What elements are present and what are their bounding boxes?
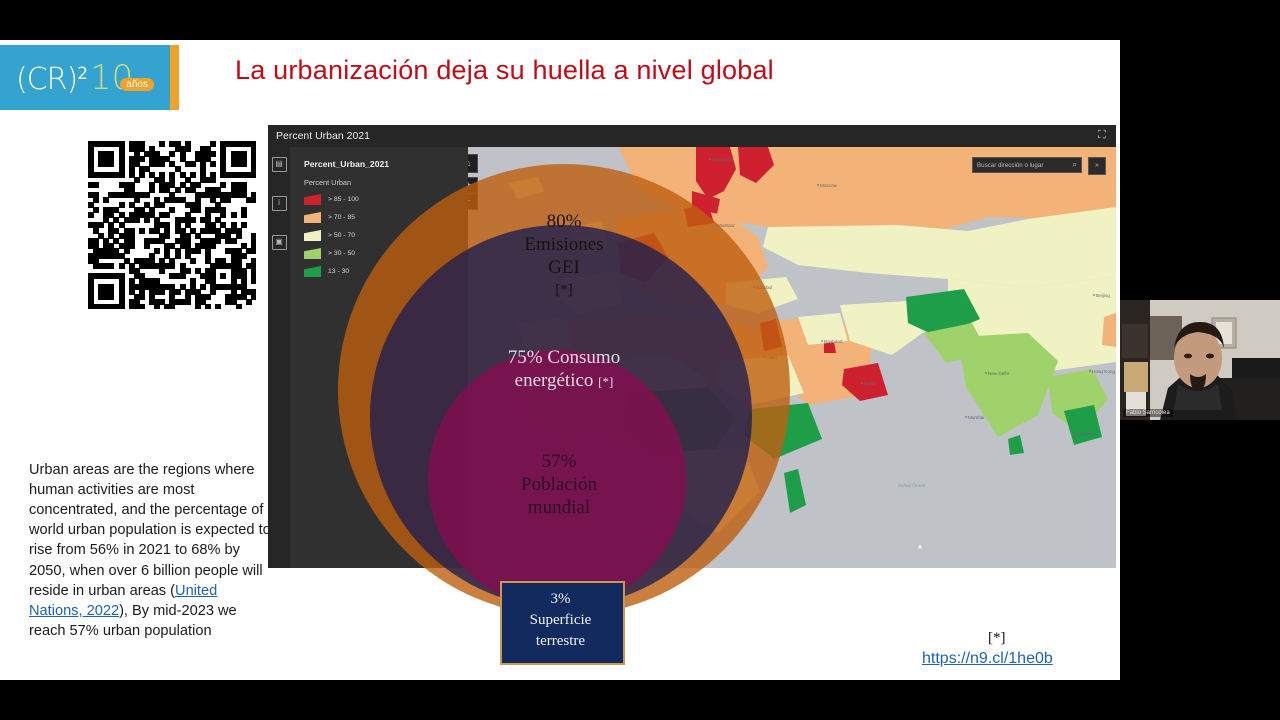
footnote-link[interactable]: https://n9.cl/1he0b	[922, 650, 1053, 668]
legend-icon[interactable]: ▤	[272, 157, 287, 172]
city-marker	[665, 270, 667, 272]
city-marker	[861, 382, 863, 384]
qr-code[interactable]	[88, 141, 256, 309]
city-marker	[715, 224, 717, 226]
body-paragraph: Urban areas are the regions where human …	[29, 460, 274, 642]
logo-badge: años	[120, 78, 154, 91]
city-marker	[821, 340, 823, 342]
legend-row: > 85 - 100	[304, 194, 468, 205]
city-label: New Delhi	[988, 371, 1009, 376]
logo-mark: (CR)	[16, 62, 77, 97]
info-icon[interactable]: i	[272, 196, 287, 211]
city-marker	[1093, 294, 1095, 296]
zoom-in-button[interactable]: +	[468, 178, 477, 193]
expand-icon[interactable]: ⛶	[1098, 130, 1109, 141]
city-marker	[965, 416, 967, 418]
city-marker	[763, 356, 765, 358]
legend-swatch	[304, 230, 321, 241]
legend-label: 13 - 30	[328, 268, 349, 275]
logo-accent-bar	[170, 45, 179, 110]
land-pct: 3%	[503, 589, 618, 610]
city-label: Moscow	[820, 183, 838, 188]
city-label: Madrid	[564, 287, 578, 292]
legend-label: > 70 - 85	[328, 214, 355, 221]
city-marker	[611, 248, 613, 250]
city-marker	[985, 372, 987, 374]
logo-superscript: 2	[77, 64, 88, 84]
legend-title: Percent Urban	[304, 178, 468, 187]
city-label: Paris	[614, 247, 625, 252]
legend-row: > 50 - 70	[304, 230, 468, 241]
label-land-surface: 3% Superficie terrestre	[503, 589, 618, 652]
legend-label: > 85 - 100	[328, 196, 359, 203]
city-label: Milan	[668, 269, 679, 274]
city-marker	[753, 286, 755, 288]
qr-code-canvas	[88, 141, 256, 309]
cr2-logo: (CR)2 10 años	[0, 45, 170, 110]
city-marker	[709, 158, 711, 160]
land-line1: Superficie	[503, 610, 618, 631]
world-choropleth: StockholmMoscowLondonWarsawParisMilanMad…	[468, 147, 1116, 568]
city-label: Accra	[568, 479, 580, 484]
layer-name: Percent_Urban_2021	[304, 159, 468, 169]
legend-swatch	[304, 248, 321, 259]
ocean-label: Indian Ocean	[897, 484, 926, 489]
map-window-body: ▤ i ▣ Percent_Urban_2021 Percent Urban >…	[268, 147, 1116, 568]
search-placeholder: Buscar dirección o lugar	[977, 162, 1073, 169]
city-label: Hong Kong	[1092, 369, 1115, 374]
city-label: Bangkok	[1078, 431, 1097, 436]
square-land-surface	[500, 581, 625, 665]
legend-swatch	[304, 194, 321, 205]
legend-row: > 70 - 85	[304, 212, 468, 223]
city-label: Cairo	[766, 355, 777, 360]
webcam-video	[1120, 300, 1280, 420]
city-label: Mumbai	[968, 415, 984, 420]
zoom-out-button[interactable]: −	[468, 193, 477, 209]
legend-rows: > 85 - 100> 70 - 85> 50 - 70> 30 - 5013 …	[304, 194, 468, 277]
city-marker	[565, 480, 567, 482]
map-canvas[interactable]: StockholmMoscowLondonWarsawParisMilanMad…	[468, 147, 1116, 568]
search-expand-button[interactable]: »	[1088, 157, 1106, 175]
city-marker	[561, 288, 563, 290]
city-label: London	[578, 231, 594, 236]
basemap-icon[interactable]: ▣	[272, 235, 287, 250]
legend-label: > 50 - 70	[328, 232, 355, 239]
city-marker	[1089, 370, 1091, 372]
screen-recording-frame: (CR)2 10 años La urbanización deja su hu…	[0, 0, 1280, 720]
city-label: Baghdad	[824, 339, 843, 344]
city-label: Istanbul	[756, 285, 772, 290]
legend-row: 13 - 30	[304, 266, 468, 277]
legend-swatch	[304, 212, 321, 223]
search-icon[interactable]: ⌕	[1073, 160, 1077, 170]
map-window-titlebar: Percent Urban 2021 ⛶	[268, 125, 1116, 147]
land-line2: terrestre	[503, 631, 618, 652]
city-marker	[1075, 432, 1077, 434]
legend-label: > 30 - 50	[328, 250, 355, 257]
zoom-controls: + −	[468, 177, 478, 210]
paragraph-part-1: Urban areas are the regions where human …	[29, 462, 271, 599]
map-application-window: Percent Urban 2021 ⛶ ▤ i ▣ Percent_Urban…	[268, 125, 1116, 568]
legend-swatch	[304, 266, 321, 277]
city-label: Dubai	[864, 381, 876, 386]
home-button[interactable]: ⌂	[468, 154, 478, 173]
search-box[interactable]: Buscar dirección o lugar ⌕	[972, 157, 1082, 173]
legend-row: > 30 - 50	[304, 248, 468, 259]
city-label: Warsaw	[718, 223, 735, 228]
page-title: La urbanización deja su huella a nivel g…	[235, 55, 774, 86]
presentation-slide: (CR)2 10 años La urbanización deja su hu…	[0, 40, 1120, 680]
city-label: Beijing	[1096, 293, 1110, 298]
footnote-marker: [*]	[988, 630, 1006, 647]
city-marker	[575, 232, 577, 234]
map-tool-rail: ▤ i ▣	[268, 147, 290, 568]
participant-name: Fabio Sarricolea	[1123, 409, 1173, 417]
map-window-title: Percent Urban 2021	[276, 130, 370, 142]
city-marker	[817, 184, 819, 186]
legend-panel: Percent_Urban_2021 Percent Urban > 85 - …	[290, 147, 468, 568]
webcam-thumbnail[interactable]: Fabio Sarricolea	[1120, 298, 1280, 420]
city-label: Stockholm	[712, 157, 734, 162]
